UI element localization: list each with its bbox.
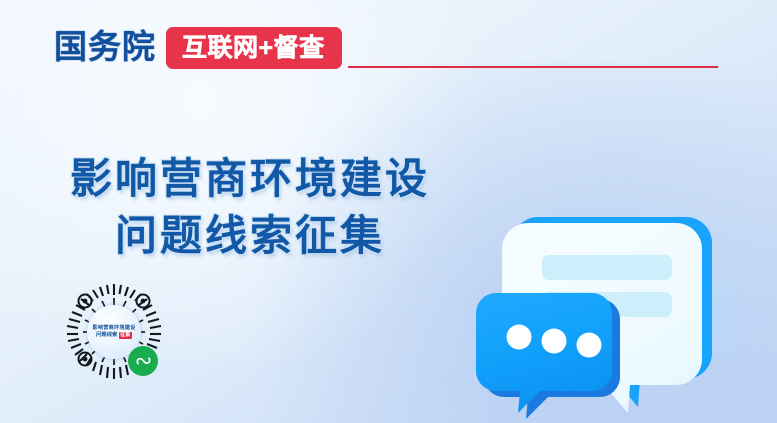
speech-bubbles-illustration [470,175,777,423]
qr-center-line-2-text: 问题线索 [96,332,118,339]
page-title-line-1: 影响营商环境建设 [0,150,500,207]
campaign-tag[interactable]: 互联网+督查 [166,27,342,69]
state-council-logo: 国务院 [54,22,156,72]
campaign-tag-label: 互联网+督查 [182,27,325,69]
wechat-miniprogram-qr-code[interactable]: 影响营商环境建设 问题线索 征集 [60,278,168,386]
banner-header: 国务院 互联网+督查 [0,22,777,74]
qr-center-badge: 征集 [119,332,132,339]
header-divider-rule [348,66,718,68]
page-title: 影响营商环境建设 问题线索征集 [0,150,500,264]
page-title-line-2: 问题线索征集 [0,207,500,264]
qr-center-line-1: 影响营商环境建设 [92,325,135,332]
wechat-miniprogram-icon [128,346,158,376]
miniprogram-glyph-icon [134,352,153,371]
promo-banner: 国务院 互联网+督查 影响营商环境建设 问题线索征集 [0,0,777,423]
qr-center-line-2: 问题线索 征集 [96,332,132,339]
